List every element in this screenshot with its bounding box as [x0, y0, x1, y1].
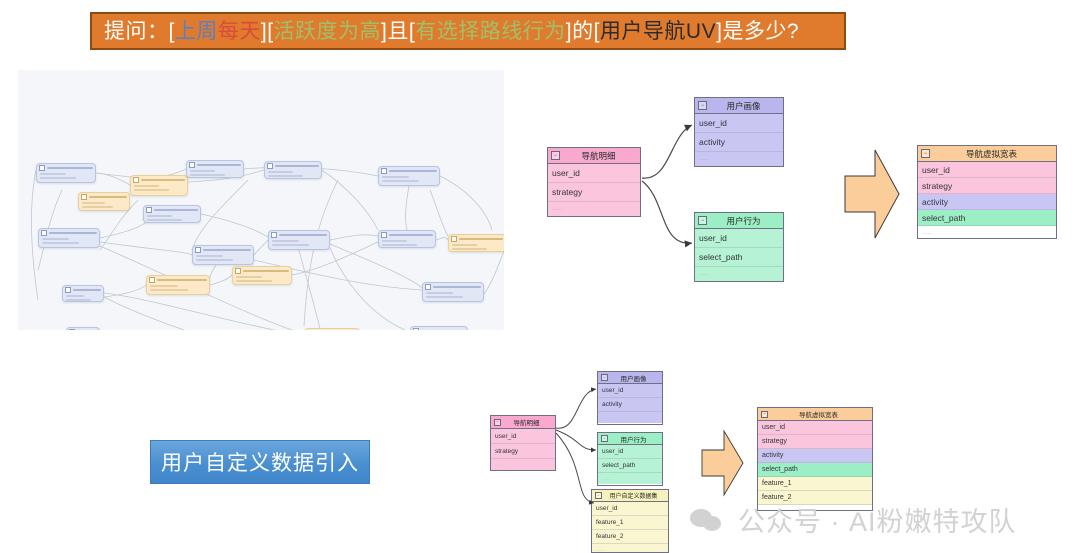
- graph-node[interactable]: [192, 245, 254, 265]
- question-segment: 且: [387, 21, 409, 42]
- graph-node-line: [150, 285, 178, 287]
- er-field-row: select_path: [695, 248, 783, 267]
- er-table-title: 用户画像: [707, 100, 780, 112]
- graph-node-title: [459, 238, 503, 241]
- graph-node[interactable]: [378, 166, 440, 186]
- graph-node-line: [426, 296, 463, 298]
- middle-transform-arrow: [843, 146, 901, 242]
- graph-node-type-icon: [69, 329, 75, 330]
- table-expand-icon[interactable]: −: [494, 419, 501, 426]
- graph-node-type-icon: [149, 277, 155, 283]
- er-field-row: user_id: [758, 421, 872, 435]
- graph-node[interactable]: [78, 192, 130, 211]
- graph-node-type-icon: [235, 268, 241, 274]
- graph-node-title: [141, 179, 185, 182]
- graph-node-type-icon: [381, 168, 387, 174]
- er-table-title: 导航虚拟宽表: [768, 409, 869, 419]
- graph-node-header: [63, 286, 103, 293]
- er-field-row: strategy: [491, 444, 555, 459]
- er-field-row: select_path: [918, 210, 1056, 226]
- question-segment: 的: [572, 21, 594, 42]
- er-field-row: activity: [598, 398, 662, 412]
- er-field-row: user_id: [598, 384, 662, 398]
- graph-node-title: [433, 286, 481, 289]
- graph-node-header: [423, 283, 483, 290]
- er-table-header: − 用户行为: [598, 433, 662, 445]
- er-table-title: 用户画像: [608, 373, 659, 383]
- er-field-row: strategy: [758, 435, 872, 449]
- graph-node-line: [40, 177, 76, 179]
- er-table-header: − 导航明细: [491, 416, 555, 429]
- question-segment: 上周: [175, 21, 218, 42]
- graph-node-line: [190, 170, 215, 172]
- graph-node[interactable]: [448, 234, 504, 252]
- er-field-row: feature_1: [758, 477, 872, 491]
- graph-node[interactable]: [66, 327, 100, 330]
- graph-node-type-icon: [41, 230, 47, 236]
- graph-node[interactable]: [146, 275, 210, 295]
- graph-node-line: [452, 248, 487, 250]
- table-expand-icon[interactable]: −: [761, 411, 768, 418]
- graph-node[interactable]: [268, 230, 330, 250]
- graph-node-header: [147, 276, 209, 283]
- er-table-title: 导航明细: [560, 150, 637, 162]
- er-field-row: strategy: [918, 178, 1056, 194]
- er-table-footer: ……: [918, 226, 1056, 239]
- graph-node-line: [268, 175, 303, 177]
- graph-node-title: [47, 167, 93, 170]
- er-table-header: − 导航明细: [548, 148, 640, 164]
- graph-node-header: [144, 206, 200, 213]
- graph-node-title: [389, 170, 437, 173]
- graph-node-type-icon: [133, 177, 139, 183]
- er-table-footer: ……: [592, 544, 668, 553]
- graph-node-header: [265, 162, 321, 169]
- graph-node-title: [203, 249, 251, 252]
- er-field-row: feature_2: [758, 491, 872, 505]
- graph-node-line: [272, 240, 299, 242]
- graph-node-line: [236, 280, 272, 282]
- er-field-row: activity: [918, 194, 1056, 210]
- er-field-row: user_id: [918, 162, 1056, 178]
- graph-node-title: [89, 196, 127, 199]
- graph-node-title: [73, 289, 101, 292]
- graph-node-header: [39, 229, 99, 236]
- er-field-row: activity: [758, 449, 872, 463]
- er-field-row: feature_2: [592, 530, 668, 544]
- er-table-source-bottom[interactable]: − 导航明细 user_id strategy ……: [490, 415, 556, 471]
- graph-node-type-icon: [271, 232, 277, 238]
- graph-node-line: [134, 185, 159, 187]
- graph-node[interactable]: [264, 161, 322, 179]
- er-field-row: user_id: [695, 229, 783, 248]
- er-field-row: select_path: [598, 459, 662, 473]
- graph-node-line: [196, 259, 233, 261]
- graph-node-header: [305, 329, 359, 330]
- graph-node[interactable]: [304, 328, 360, 330]
- er-table-title: 导航虚拟宽表: [930, 148, 1053, 160]
- graph-node-header: [449, 235, 504, 242]
- graph-node-type-icon: [451, 236, 457, 242]
- graph-node-line: [147, 219, 182, 221]
- er-table-title: 用户自定义数据集: [602, 491, 665, 500]
- graph-node-type-icon: [381, 232, 387, 238]
- graph-node-line: [82, 202, 105, 204]
- er-table-footer: ……: [548, 202, 640, 216]
- er-table-footer: ……: [598, 412, 662, 423]
- graph-node-header: [233, 267, 291, 274]
- graph-node-line: [82, 206, 113, 208]
- graph-node-title: [157, 279, 207, 282]
- er-table-source-middle[interactable]: − 导航明细 user_id strategy ……: [547, 147, 641, 217]
- bottom-diagram-connectors: [552, 370, 604, 530]
- question-text: 提问：[上周每天][活跃度为高]且[有选择路线行为]的[用户导航UV]是多少?: [104, 21, 799, 42]
- er-table-user-profile-bottom[interactable]: − 用户画像 user_id activity ……: [597, 371, 663, 425]
- graph-node-line: [196, 255, 223, 257]
- graph-node[interactable]: [186, 160, 244, 178]
- er-table-title: 用户行为: [608, 434, 659, 444]
- er-field-row: user_id: [598, 445, 662, 459]
- graph-node-header: [411, 327, 467, 330]
- lineage-graph-panel[interactable]: [18, 70, 504, 330]
- question-segment: 活跃度为高: [274, 21, 382, 42]
- graph-node-type-icon: [195, 247, 201, 253]
- er-field-row: strategy: [548, 183, 640, 202]
- graph-node-header: [67, 328, 99, 330]
- graph-node[interactable]: [62, 285, 104, 302]
- graph-node[interactable]: [143, 205, 201, 223]
- graph-node-line: [42, 238, 69, 240]
- graph-node[interactable]: [378, 230, 436, 248]
- graph-node-line: [190, 174, 225, 176]
- table-expand-icon[interactable]: −: [551, 151, 560, 160]
- er-table-header: − 导航虚拟宽表: [758, 408, 872, 421]
- er-table-footer: ……: [695, 152, 783, 166]
- graph-node-line: [42, 242, 79, 244]
- graph-node-line: [150, 289, 188, 291]
- er-field-row: user_id: [548, 164, 640, 183]
- wechat-icon: [690, 507, 728, 533]
- graph-node-line: [272, 244, 309, 246]
- graph-node-title: [243, 270, 289, 273]
- question-segment: 有选择路线行为: [415, 21, 566, 42]
- er-table-header: − 用户行为: [695, 213, 783, 229]
- question-banner: 提问：[上周每天][活跃度为高]且[有选择路线行为]的[用户导航UV]是多少?: [90, 12, 846, 50]
- graph-node[interactable]: [130, 175, 188, 196]
- graph-node-line: [382, 176, 409, 178]
- custom-data-label-box: 用户自定义数据引入: [150, 440, 370, 484]
- graph-node[interactable]: [36, 163, 96, 183]
- graph-node-header: [379, 167, 439, 174]
- graph-node-header: [269, 231, 329, 238]
- graph-node-line: [382, 180, 419, 182]
- graph-node-title: [389, 234, 433, 237]
- graph-node-header: [187, 161, 243, 168]
- graph-node-type-icon: [39, 165, 45, 171]
- graph-node-line: [147, 215, 172, 217]
- graph-node-header: [79, 193, 129, 200]
- graph-node-title: [279, 234, 327, 237]
- graph-node-line: [236, 276, 262, 278]
- question-segment: 每天: [218, 21, 261, 42]
- question-segment: 是多少?: [722, 21, 799, 42]
- graph-node-header: [37, 164, 95, 171]
- graph-node[interactable]: [422, 282, 484, 302]
- graph-node-line: [268, 171, 293, 173]
- question-segment: 用户导航UV: [600, 21, 716, 42]
- er-table-header: − 用户画像: [598, 372, 662, 384]
- er-table-header: − 导航虚拟宽表: [918, 146, 1056, 162]
- graph-node-line: [452, 244, 477, 246]
- er-table-user-profile-middle[interactable]: − 用户画像 user_id activity ……: [694, 97, 784, 167]
- er-field-row: user_id: [491, 429, 555, 444]
- graph-node-line: [40, 173, 66, 175]
- er-table-result-bottom[interactable]: − 导航虚拟宽表 user_id strategy activity selec…: [757, 407, 873, 511]
- graph-node-line: [426, 292, 453, 294]
- graph-node-title: [49, 232, 97, 235]
- graph-node-type-icon: [65, 287, 71, 293]
- er-table-user-behavior-middle[interactable]: − 用户行为 user_id select_path ……: [694, 212, 784, 282]
- graph-node-type-icon: [267, 163, 273, 169]
- graph-node-type-icon: [425, 284, 431, 290]
- graph-node[interactable]: [410, 326, 468, 330]
- er-table-user-behavior-bottom[interactable]: − 用户行为 user_id select_path ……: [597, 432, 663, 486]
- graph-node-line: [66, 299, 91, 301]
- er-table-result-middle[interactable]: − 导航虚拟宽表 user_id strategy activity selec…: [917, 145, 1057, 239]
- er-table-footer: ……: [491, 459, 555, 470]
- graph-node-header: [131, 176, 187, 183]
- graph-node[interactable]: [38, 228, 100, 248]
- graph-node[interactable]: [232, 266, 292, 285]
- question-segment: 提问：: [104, 21, 169, 42]
- graph-node-type-icon: [189, 162, 195, 168]
- bottom-transform-arrow: [700, 428, 746, 498]
- graph-node-header: [379, 231, 435, 238]
- custom-data-label-text: 用户自定义数据引入: [161, 447, 359, 477]
- graph-node-line: [382, 240, 407, 242]
- graph-node-type-icon: [81, 194, 87, 200]
- graph-node-type-icon: [146, 207, 152, 213]
- middle-diagram-connectors: [636, 95, 702, 285]
- graph-node-title: [275, 165, 319, 168]
- er-field-row: select_path: [758, 463, 872, 477]
- graph-node-line: [134, 189, 169, 191]
- graph-node-title: [154, 209, 198, 212]
- graph-node-title: [197, 164, 241, 167]
- er-table-footer: ……: [598, 473, 662, 484]
- graph-node-header: [193, 246, 253, 253]
- er-field-row: activity: [695, 133, 783, 152]
- graph-node-line: [382, 244, 417, 246]
- er-table-header: − 用户画像: [695, 98, 783, 114]
- er-field-row: user_id: [695, 114, 783, 133]
- er-table-title: 用户行为: [707, 215, 780, 227]
- er-table-title: 导航明细: [501, 417, 552, 427]
- graph-node-type-icon: [413, 328, 419, 330]
- table-expand-icon[interactable]: −: [921, 149, 930, 158]
- graph-node-line: [66, 295, 84, 297]
- er-table-footer: ……: [695, 267, 783, 281]
